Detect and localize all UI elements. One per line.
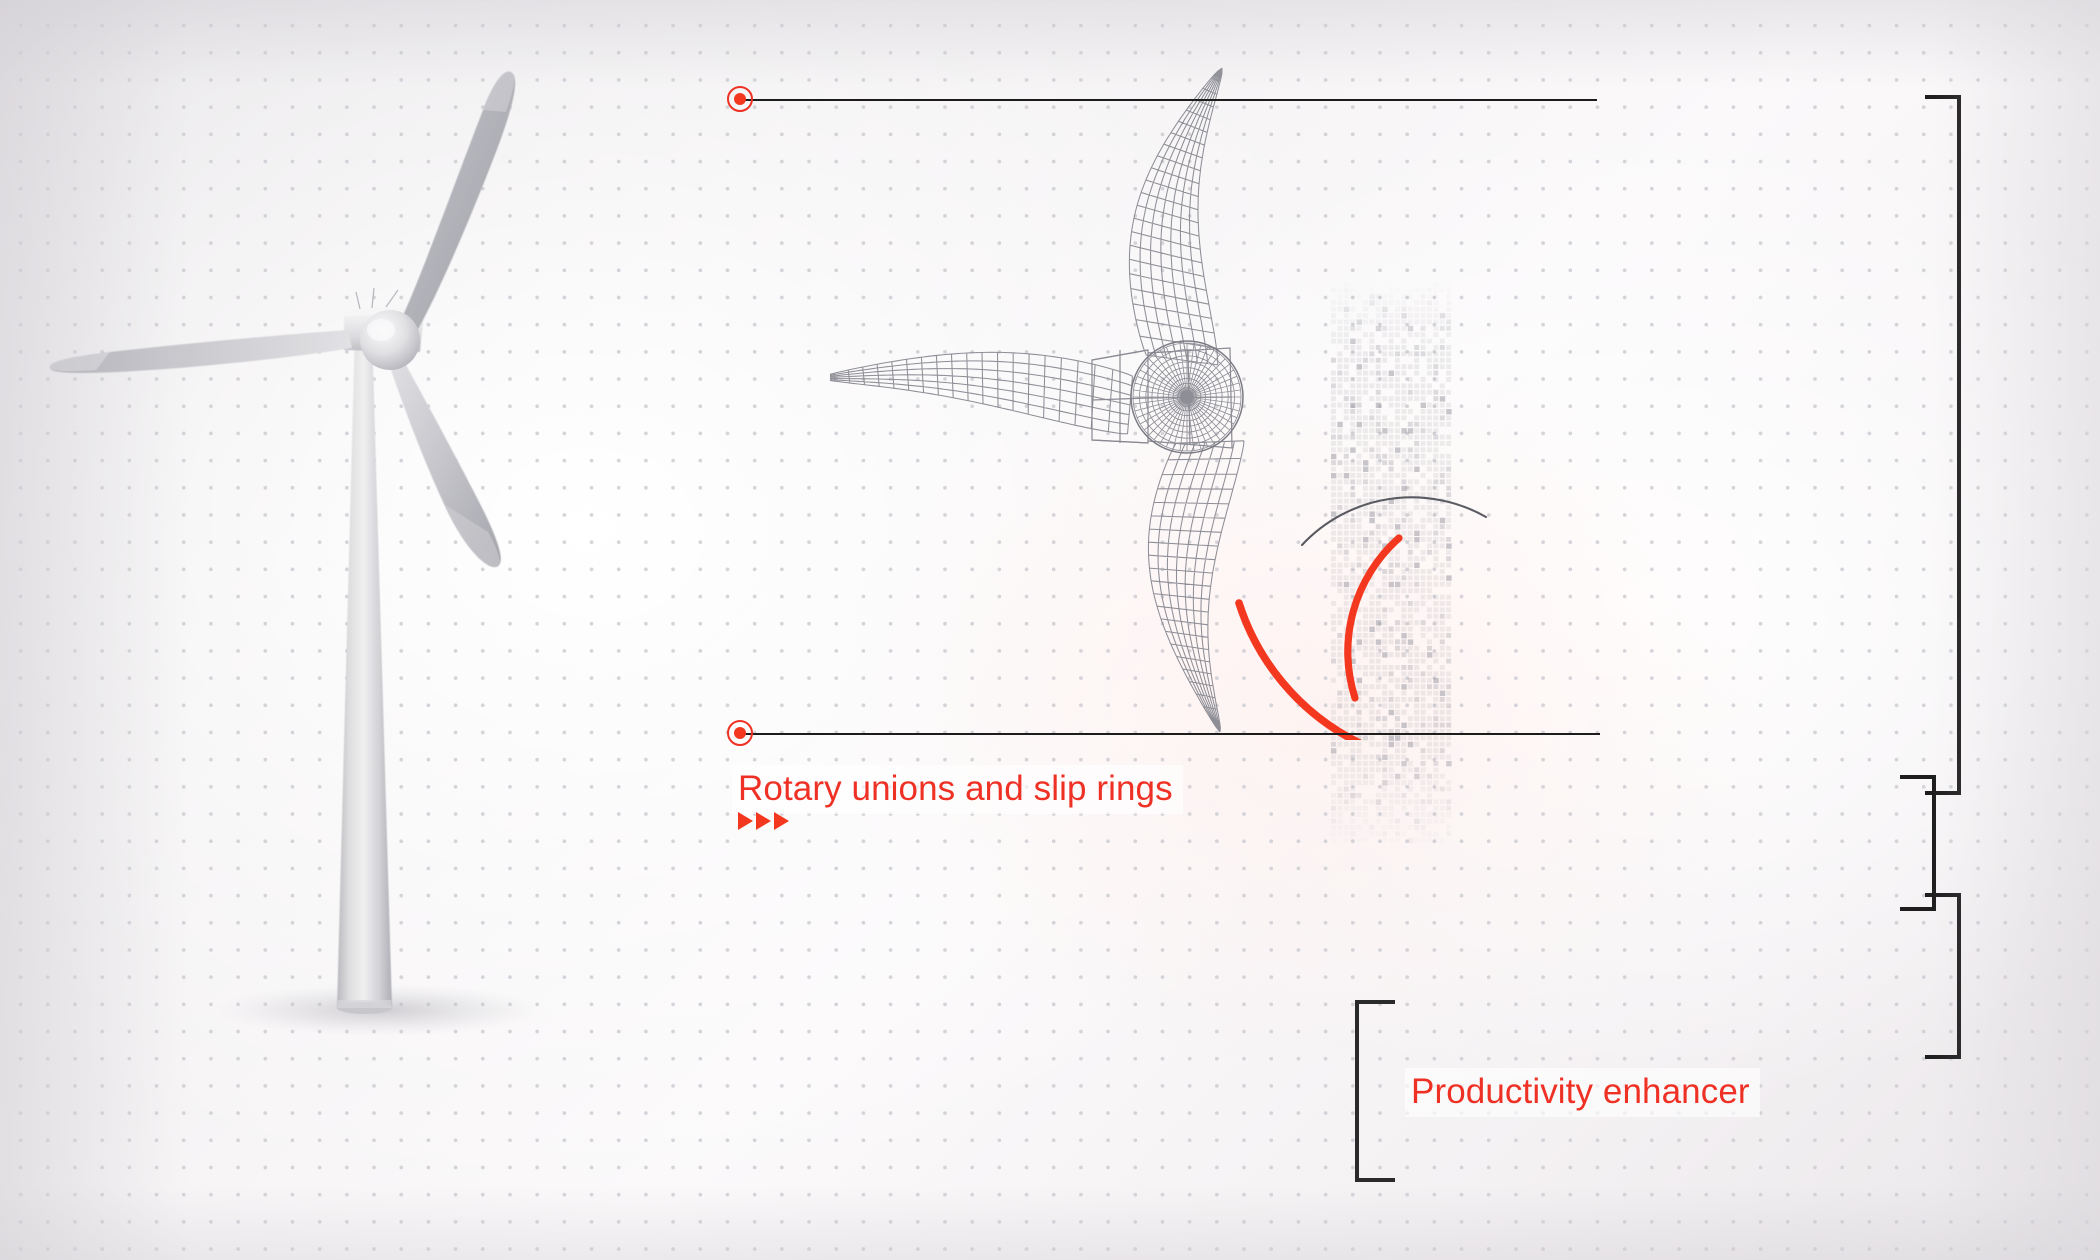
callout-label-rotary-unions: Rotary unions and slip rings [732,765,1183,814]
callout-marker-bottom[interactable] [727,720,753,746]
rotation-direction-arcs [1215,510,1635,740]
wireframe-blade-left [830,352,1133,434]
infographic-canvas: Rotary unions and slip rings Productivit… [0,0,2100,1260]
play-triangle-icon [756,812,771,830]
wind-turbine-photo [0,0,760,1150]
turbine-tower [337,330,392,1008]
rotation-arc-outer [1239,603,1545,740]
dimension-bracket-segment-minor-upper [1900,775,1936,911]
callout-label-productivity-enhancer: Productivity enhancer [1405,1068,1760,1117]
leader-line-bottom [742,733,1600,735]
dimension-bracket-segment-major [1925,95,1961,795]
dimension-bracket-segment-minor-lower [1925,893,1961,1059]
turbine-hub [360,310,420,370]
callout-arrow-indicators[interactable] [738,812,789,830]
nacelle-antenna [356,288,398,309]
leader-line-top [742,99,1597,101]
callout-marker-top[interactable] [727,86,753,112]
rotation-arc-inner [1348,538,1399,698]
bracket-productivity-enhancer [1355,1000,1395,1182]
wireframe-blade-upper [1129,68,1222,365]
wireframe-hub [1133,343,1241,451]
play-triangle-icon [738,812,753,830]
play-triangle-icon [774,812,789,830]
